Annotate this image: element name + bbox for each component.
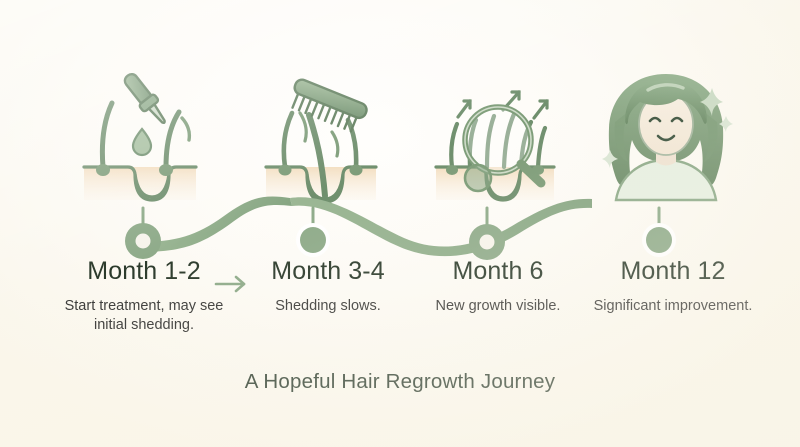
- stage-column-4: Month 12 Significant improvement.: [578, 258, 768, 316]
- stage-column-3: Month 6 New growth visible.: [412, 258, 584, 316]
- stage-month-4: Month 12: [578, 258, 768, 286]
- timeline-marker-2[interactable]: [296, 223, 330, 257]
- stage-labels: Month 1-2 Start treatment, may see initi…: [0, 258, 800, 378]
- stage-month-2: Month 3-4: [240, 258, 416, 286]
- timeline-ribbon-segment-2: [290, 197, 592, 256]
- stage-month-3: Month 6: [412, 258, 584, 286]
- arrow-right-icon: [210, 272, 256, 296]
- infographic-caption: A Hopeful Hair Regrowth Journey: [0, 370, 800, 394]
- timeline-marker-4[interactable]: [642, 223, 676, 257]
- timeline-marker-1[interactable]: [125, 223, 161, 259]
- infographic-canvas: Month 1-2 Start treatment, may see initi…: [0, 0, 800, 447]
- stage-column-1: Month 1-2 Start treatment, may see initi…: [46, 258, 242, 336]
- timeline-ribbon-segment-1: [138, 196, 292, 252]
- timeline-marker-3[interactable]: [469, 224, 505, 260]
- stage-description-1: Start treatment, may see initial sheddin…: [46, 297, 242, 336]
- stage-description-4: Significant improvement.: [578, 297, 768, 317]
- stage-description-3: New growth visible.: [412, 297, 584, 317]
- stage-column-2: Month 3-4 Shedding slows.: [240, 258, 416, 316]
- stage-description-2: Shedding slows.: [240, 297, 416, 317]
